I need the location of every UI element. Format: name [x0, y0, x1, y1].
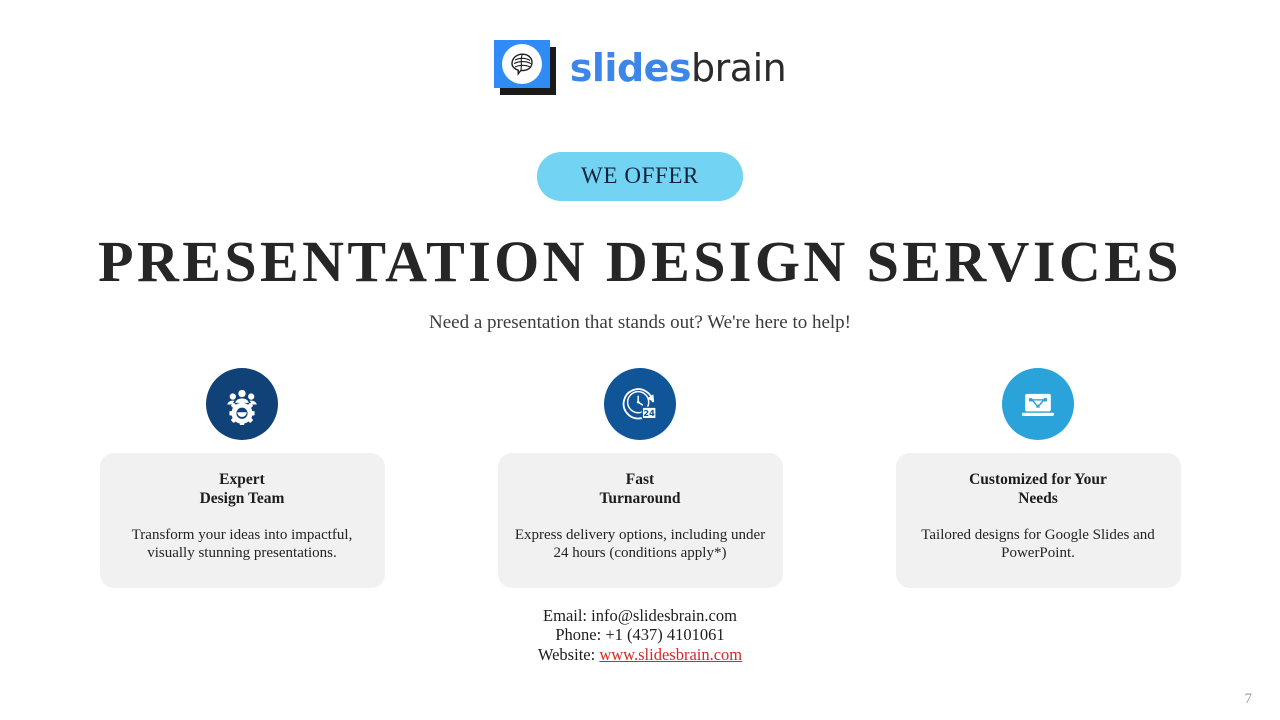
feature-columns: Expert Design Team Transform your ideas …	[92, 368, 1188, 588]
feature-body: Transform your ideas into impactful, vis…	[116, 526, 369, 563]
feature-title-line2: Design Team	[200, 490, 285, 507]
feature-title: Expert Design Team	[116, 470, 369, 509]
feature-title-line1: Expert	[219, 471, 265, 488]
website-link[interactable]: www.slidesbrain.com	[599, 645, 742, 664]
feature-card: Fast Turnaround Express delivery options…	[498, 453, 783, 588]
feature-body: Tailored designs for Google Slides and P…	[912, 526, 1165, 563]
feature-title-line2: Turnaround	[600, 490, 681, 507]
brand-name-secondary: brain	[691, 46, 786, 90]
feature-card: Expert Design Team Transform your ideas …	[100, 453, 385, 588]
feature-column-expert-design-team: Expert Design Team Transform your ideas …	[92, 368, 392, 588]
feature-title-line1: Fast	[626, 471, 654, 488]
brain-icon	[502, 44, 542, 84]
feature-card: Customized for Your Needs Tailored desig…	[896, 453, 1181, 588]
badge-row: WE OFFER	[0, 152, 1280, 201]
clock-24-hours-icon: 24	[604, 368, 676, 440]
contact-website-label: Website:	[538, 645, 599, 664]
page-title: PRESENTATION DESIGN SERVICES	[0, 232, 1280, 293]
contact-phone: Phone: +1 (437) 4101061	[0, 625, 1280, 644]
logo-mark	[494, 40, 556, 95]
feature-column-fast-turnaround: 24 Fast Turnaround Express delivery opti…	[490, 368, 790, 588]
contact-website-row: Website: www.slidesbrain.com	[0, 645, 1280, 664]
feature-title-line2: Needs	[1018, 490, 1058, 507]
logo-square	[494, 40, 550, 88]
contact-email: Email: info@slidesbrain.com	[0, 606, 1280, 625]
feature-title: Customized for Your Needs	[912, 470, 1165, 509]
feature-column-customized-needs: Customized for Your Needs Tailored desig…	[888, 368, 1188, 588]
page-subtitle: Need a presentation that stands out? We'…	[0, 312, 1280, 334]
feature-body: Express delivery options, including unde…	[514, 526, 767, 563]
brand-name-primary: slides	[570, 46, 691, 90]
brand-wordmark: slidesbrain	[570, 49, 786, 87]
we-offer-badge: WE OFFER	[537, 152, 743, 201]
contact-block: Email: info@slidesbrain.com Phone: +1 (4…	[0, 606, 1280, 664]
laptop-design-icon	[1002, 368, 1074, 440]
feature-title-line1: Customized for Your	[969, 471, 1107, 488]
people-gear-icon	[206, 368, 278, 440]
page-number: 7	[1245, 691, 1253, 708]
feature-title: Fast Turnaround	[514, 470, 767, 509]
brand-logo: slidesbrain	[0, 40, 1280, 95]
clock-badge-24: 24	[643, 408, 655, 418]
